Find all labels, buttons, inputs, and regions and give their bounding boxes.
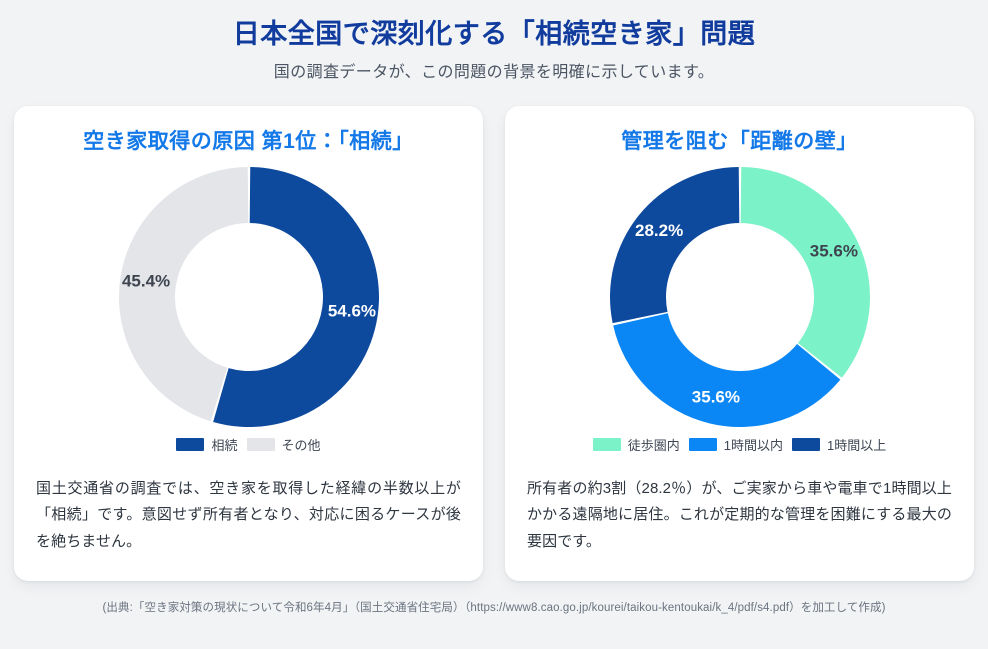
donut-slice-label-1時間以上: 28.2% (634, 221, 682, 240)
donut-chart-left: 54.6%45.4% (36, 163, 461, 431)
card-inheritance-cause: 空き家取得の原因 第1位：「相続」 54.6%45.4% 相続その他 国土交通省… (14, 106, 483, 581)
cards-row: 空き家取得の原因 第1位：「相続」 54.6%45.4% 相続その他 国土交通省… (14, 106, 974, 581)
legend-label: 1時間以内 (724, 435, 783, 454)
card-description-right: 所有者の約3割（28.2％）が、ご実家から車や電車で1時間以上かかる遠隔地に居住… (527, 476, 952, 555)
legend-swatch-icon (689, 438, 717, 451)
donut-slice-label-その他: 45.4% (121, 272, 169, 291)
card-title-left: 空き家取得の原因 第1位：「相続」 (36, 128, 461, 155)
donut-slice-label-徒歩圏内: 35.6% (809, 242, 857, 261)
legend-item-徒歩圏内[interactable]: 徒歩圏内 (593, 435, 680, 454)
page-subtitle: 国の調査データが、この問題の背景を明確に示しています。 (14, 62, 974, 84)
page-footer: (出典:「空き家対策の現状について令和6年4月」（国土交通省住宅局）（https… (14, 581, 974, 616)
legend-swatch-icon (176, 438, 204, 451)
page-header: 日本全国で深刻化する「相続空き家」問題 国の調査データが、この問題の背景を明確に… (14, 0, 974, 85)
donut-slice-徒歩圏内 (740, 167, 869, 378)
legend-swatch-icon (247, 438, 275, 451)
infographic-page: 日本全国で深刻化する「相続空き家」問題 国の調査データが、この問題の背景を明確に… (0, 0, 988, 649)
legend-item-1時間以内[interactable]: 1時間以内 (689, 435, 783, 454)
donut-slice-1時間以上 (610, 167, 739, 323)
legend-label: 相続 (211, 435, 237, 454)
source-note: (出典:「空き家対策の現状について令和6年4月」（国土交通省住宅局）（https… (14, 600, 974, 616)
donut-slice-label-相続: 54.6% (327, 302, 375, 321)
legend-swatch-icon (792, 438, 820, 451)
donut-chart-right: 35.6%35.6%28.2% (527, 163, 952, 431)
legend-label: 1時間以上 (827, 435, 886, 454)
legend-swatch-icon (593, 438, 621, 451)
legend-item-1時間以上[interactable]: 1時間以上 (792, 435, 886, 454)
donut-slice-label-1時間以内: 35.6% (691, 388, 739, 407)
legend-item-相続[interactable]: 相続 (176, 435, 237, 454)
donut-chart-left-svg: 54.6%45.4% (115, 163, 383, 431)
chart-legend-right: 徒歩圏内1時間以内1時間以上 (527, 435, 952, 454)
card-distance-barrier: 管理を阻む「距離の壁」 35.6%35.6%28.2% 徒歩圏内1時間以内1時間… (505, 106, 974, 581)
card-title-right: 管理を阻む「距離の壁」 (527, 128, 952, 155)
page-title: 日本全国で深刻化する「相続空き家」問題 (14, 16, 974, 52)
legend-item-その他[interactable]: その他 (247, 435, 321, 454)
legend-label: 徒歩圏内 (628, 435, 680, 454)
legend-label: その他 (282, 435, 321, 454)
chart-legend-left: 相続その他 (36, 435, 461, 454)
card-description-left: 国土交通省の調査では、空き家を取得した経緯の半数以上が「相続」です。意図せず所有… (36, 476, 461, 555)
donut-chart-right-svg: 35.6%35.6%28.2% (606, 163, 874, 431)
